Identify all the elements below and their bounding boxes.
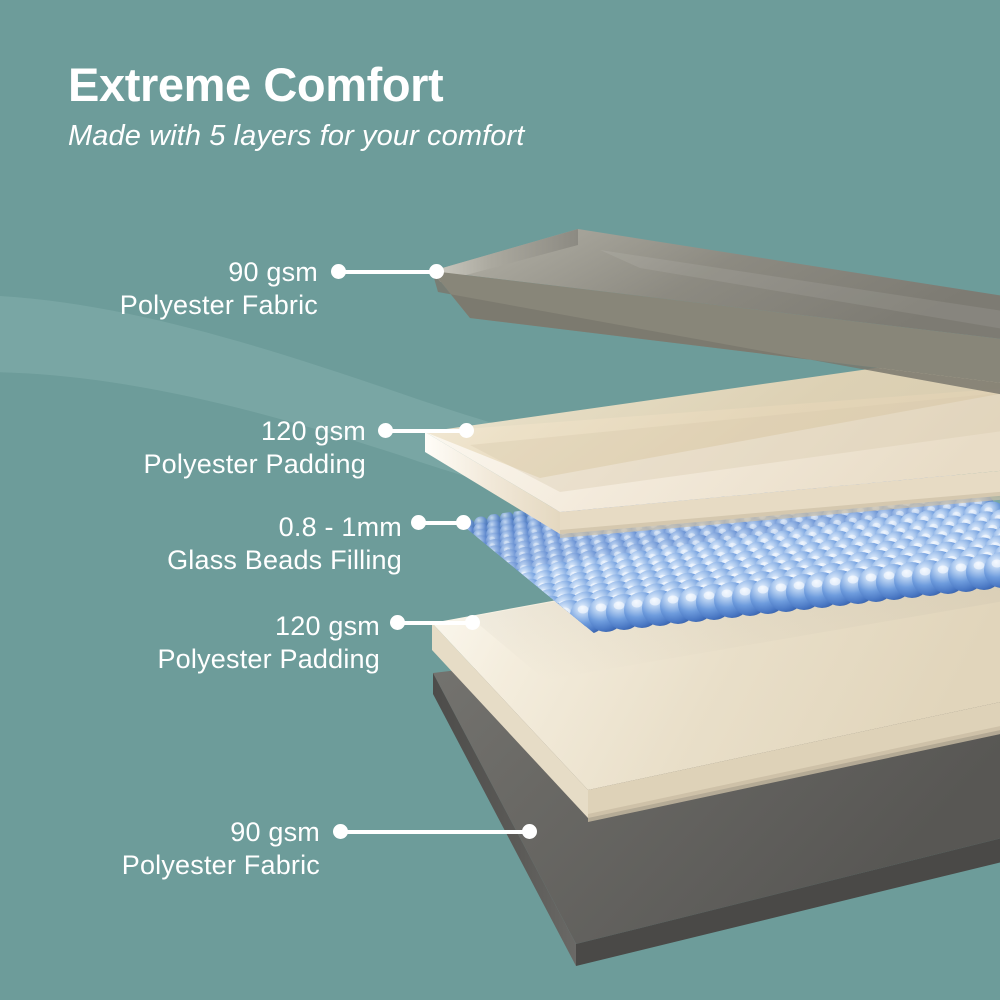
glass-bead bbox=[460, 525, 475, 540]
glass-bead-highlight bbox=[578, 606, 589, 614]
glass-bead-highlight bbox=[504, 567, 512, 573]
glass-bead bbox=[482, 577, 511, 606]
glass-bead-highlight bbox=[472, 591, 481, 598]
glass-bead-highlight bbox=[668, 596, 679, 604]
glass-bead bbox=[465, 585, 495, 615]
glass-bead-highlight bbox=[489, 563, 496, 568]
glass-bead-highlight bbox=[488, 583, 497, 589]
glass-bead bbox=[453, 562, 477, 586]
callout-glass-beads: 0.8 - 1mm Glass Beads Filling bbox=[167, 511, 402, 577]
layer-top-fabric bbox=[432, 229, 1000, 396]
callout-amount: 120 gsm bbox=[143, 415, 366, 448]
glass-bead-highlight bbox=[461, 548, 467, 552]
callout-material: Polyester Fabric bbox=[122, 849, 320, 882]
glass-bead-highlight bbox=[722, 590, 733, 598]
callout-material: Polyester Fabric bbox=[120, 289, 318, 322]
glass-bead-highlight bbox=[474, 565, 481, 570]
callout-top-padding: 120 gsm Polyester Padding bbox=[143, 415, 366, 481]
callout-amount: 90 gsm bbox=[120, 256, 318, 289]
glass-bead-highlight bbox=[471, 598, 480, 605]
glass-bead bbox=[483, 570, 510, 597]
glass-bead bbox=[466, 579, 495, 608]
glass-bead-highlight bbox=[776, 584, 787, 592]
glass-bead-highlight bbox=[956, 564, 967, 572]
glass-bead bbox=[449, 587, 479, 617]
glass-bead-highlight bbox=[489, 576, 497, 582]
glass-bead-highlight bbox=[884, 572, 895, 580]
glass-bead-highlight bbox=[454, 600, 463, 607]
glass-bead-highlight bbox=[472, 585, 481, 591]
glass-bead-highlight bbox=[488, 596, 497, 603]
glass-bead bbox=[483, 564, 509, 590]
callout-amount: 0.8 - 1mm bbox=[167, 511, 402, 544]
glass-bead-highlight bbox=[522, 592, 531, 599]
glass-bead-highlight bbox=[794, 582, 805, 590]
glass-bead-highlight bbox=[459, 561, 466, 566]
glass-bead-highlight bbox=[473, 578, 481, 584]
glass-bead-highlight bbox=[505, 600, 515, 607]
glass-bead-highlight bbox=[522, 585, 531, 592]
glass-bead-highlight bbox=[848, 576, 859, 584]
glass-bead-highlight bbox=[489, 556, 496, 561]
glass-bead bbox=[451, 575, 478, 602]
glass-bead bbox=[468, 566, 494, 592]
glass-bead bbox=[450, 581, 479, 610]
glass-bead bbox=[467, 573, 494, 600]
glass-bead bbox=[470, 548, 491, 569]
glass-bead-highlight bbox=[475, 539, 481, 543]
glass-bead-highlight bbox=[489, 570, 497, 576]
glass-bead-highlight bbox=[686, 594, 697, 602]
glass-bead-highlight bbox=[505, 594, 514, 601]
glass-bead-highlight bbox=[461, 542, 467, 546]
glass-bead-highlight bbox=[614, 602, 625, 610]
glass-bead-highlight bbox=[866, 574, 877, 582]
glass-bead bbox=[459, 531, 476, 548]
glass-bead bbox=[457, 544, 477, 564]
glass-bead-highlight bbox=[457, 574, 465, 580]
glass-bead bbox=[468, 560, 492, 584]
callout-material: Glass Beads Filling bbox=[167, 544, 402, 577]
callout-bottom-padding: 120 gsm Polyester Padding bbox=[157, 610, 380, 676]
glass-bead-highlight bbox=[758, 586, 769, 594]
glass-bead-highlight bbox=[471, 605, 481, 612]
glass-bead bbox=[469, 554, 492, 577]
glass-bead-highlight bbox=[489, 550, 495, 555]
glass-bead-highlight bbox=[650, 598, 661, 606]
glass-bead-highlight bbox=[523, 598, 533, 605]
glass-bead-highlight bbox=[475, 546, 481, 550]
glass-bead bbox=[458, 538, 476, 556]
glass-bead-highlight bbox=[920, 568, 931, 576]
glass-bead-highlight bbox=[453, 607, 463, 614]
glass-bead bbox=[452, 569, 478, 595]
glass-bead-highlight bbox=[632, 600, 643, 608]
glass-bead-highlight bbox=[473, 572, 481, 578]
glass-bead-highlight bbox=[974, 562, 985, 570]
glass-bead-highlight bbox=[458, 568, 465, 573]
glass-bead-highlight bbox=[457, 581, 465, 587]
glass-bead-highlight bbox=[830, 578, 841, 586]
glass-bead bbox=[482, 583, 512, 613]
glass-bead-highlight bbox=[488, 589, 497, 596]
glass-bead-highlight bbox=[456, 587, 465, 593]
glass-bead-highlight bbox=[505, 580, 514, 586]
callout-top-fabric: 90 gsm Polyester Fabric bbox=[120, 256, 318, 322]
callout-amount: 90 gsm bbox=[122, 816, 320, 849]
glass-bead bbox=[484, 558, 508, 582]
glass-bead-highlight bbox=[475, 552, 481, 557]
glass-bead-highlight bbox=[596, 604, 607, 612]
callout-amount: 120 gsm bbox=[157, 610, 380, 643]
callout-bottom-fabric: 90 gsm Polyester Fabric bbox=[122, 816, 320, 882]
glass-bead-highlight bbox=[505, 587, 514, 594]
glass-bead-highlight bbox=[460, 555, 466, 560]
glass-bead-highlight bbox=[902, 570, 913, 578]
glass-bead bbox=[455, 550, 476, 571]
glass-bead bbox=[499, 575, 528, 604]
glass-bead bbox=[454, 556, 477, 579]
glass-bead-highlight bbox=[455, 594, 464, 601]
glass-bead-highlight bbox=[938, 566, 949, 574]
glass-bead-highlight bbox=[812, 580, 823, 588]
callout-material: Polyester Padding bbox=[143, 448, 366, 481]
callout-material: Polyester Padding bbox=[157, 643, 380, 676]
glass-bead-highlight bbox=[488, 602, 498, 609]
glass-bead-highlight bbox=[505, 574, 513, 580]
infographic-canvas: Extreme Comfort Made with 5 layers for y… bbox=[0, 0, 1000, 1000]
glass-bead-highlight bbox=[704, 592, 715, 600]
glass-bead-highlight bbox=[740, 588, 751, 596]
glass-bead-highlight bbox=[474, 559, 481, 564]
